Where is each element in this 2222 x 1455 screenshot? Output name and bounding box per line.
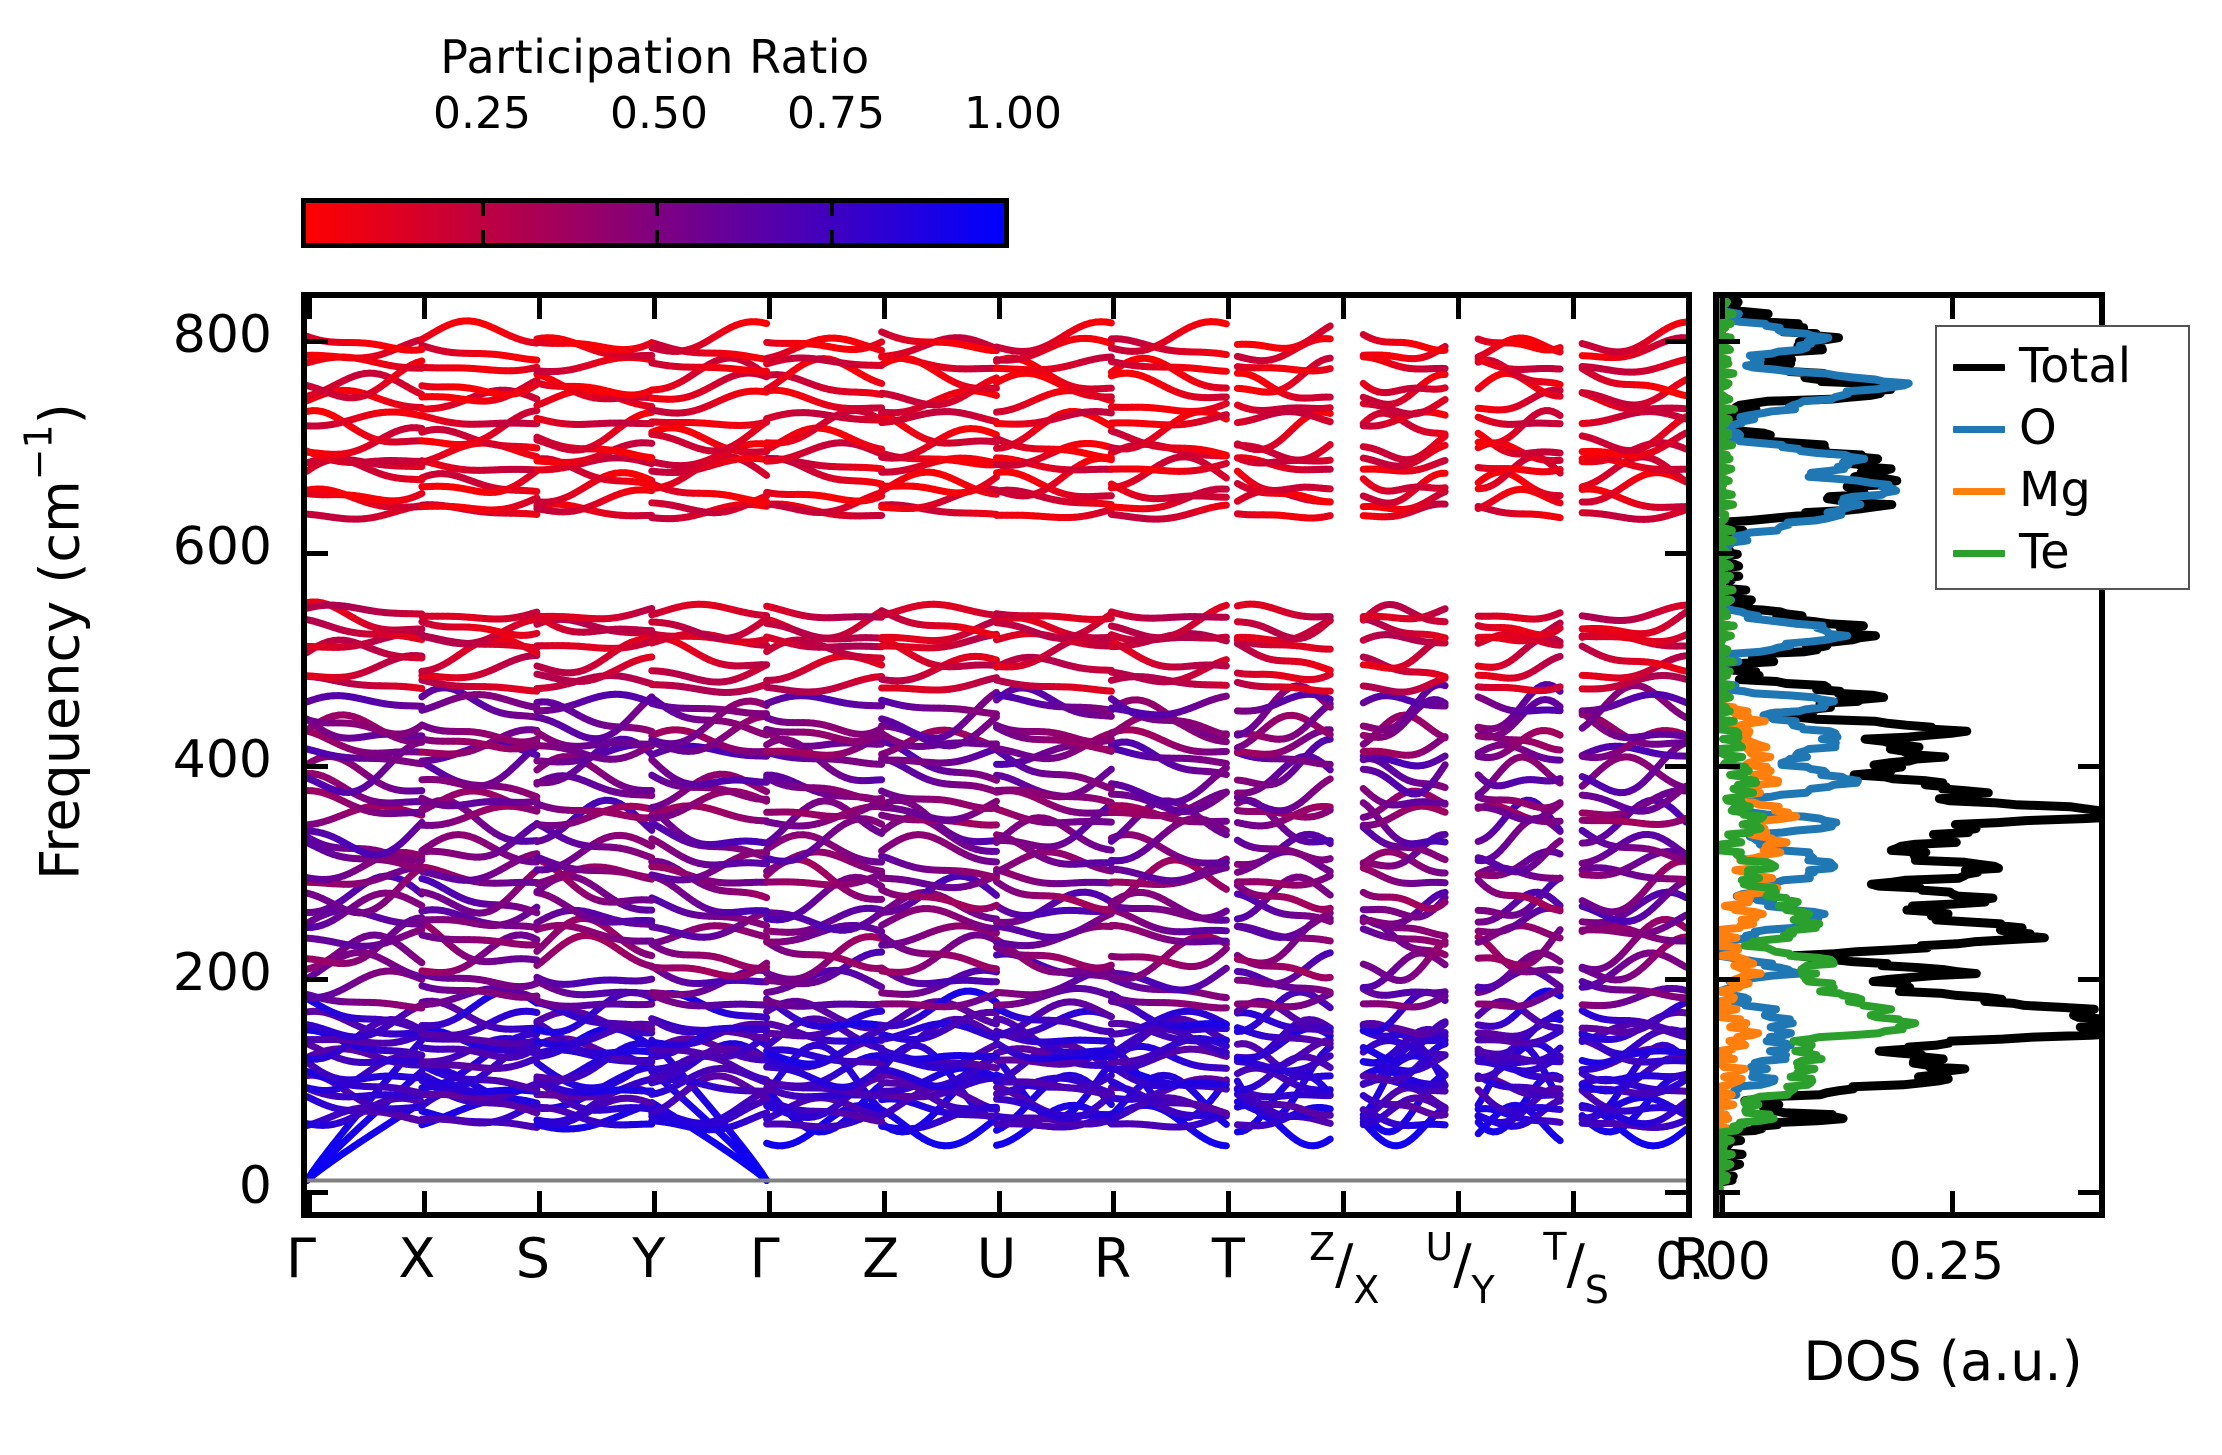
- colorbar-tick-mark: [655, 230, 659, 243]
- band-segment: [532, 1012, 537, 1013]
- band-segment: [417, 1092, 422, 1093]
- y-axis-tick-label: 200: [173, 943, 272, 1003]
- band-segment: [1106, 1094, 1111, 1095]
- band-segment: [1556, 1031, 1560, 1033]
- band-segment: [647, 1028, 652, 1029]
- band-segment: [1556, 1056, 1560, 1058]
- band-segment: [1681, 1036, 1686, 1037]
- band-segment: [876, 1047, 881, 1048]
- band-segment: [1681, 1074, 1686, 1075]
- band-segment: [761, 1079, 766, 1080]
- band-segment: [647, 1102, 652, 1104]
- band-segment: [1221, 1112, 1226, 1114]
- band-segment: [1556, 1100, 1560, 1102]
- band-segment: [1221, 1145, 1226, 1146]
- y-axis-unit-exponent: −1: [17, 424, 61, 480]
- band-segment: [1441, 1072, 1445, 1075]
- band-segment: [532, 1047, 537, 1050]
- band-segment: [417, 1120, 422, 1121]
- band-segment: [991, 1022, 996, 1024]
- band-segment: [1681, 1113, 1686, 1115]
- colorbar-tick-label: 0.75: [787, 88, 885, 139]
- band-segment: [1681, 1003, 1686, 1005]
- band-segment: [1326, 1065, 1330, 1068]
- band-segment: [1221, 1051, 1226, 1052]
- colorbar-tick-mark: [481, 203, 485, 216]
- band-segment: [876, 1121, 881, 1122]
- figure-root: Participation Ratio 0.250.500.751.00 020…: [0, 0, 2222, 1455]
- band-segment: [1681, 1129, 1686, 1133]
- band-segment: [1441, 1033, 1445, 1034]
- band-segment: [1221, 1044, 1226, 1046]
- band-segment: [1326, 1047, 1330, 1050]
- band-segment: [1326, 1005, 1330, 1008]
- band-segment: [761, 1017, 766, 1018]
- colorbar-tick-mark: [830, 230, 834, 243]
- band-segment: [1556, 1122, 1560, 1123]
- band-segment: [1681, 1080, 1686, 1083]
- colorbar: [301, 198, 1009, 248]
- band-segment: [532, 1089, 537, 1090]
- band-segment: [1326, 1139, 1330, 1142]
- band-segment: [1556, 1095, 1560, 1096]
- band-segment: [1556, 1078, 1560, 1079]
- band-structure-plot: [307, 298, 1686, 1212]
- band-segment: [1221, 1120, 1226, 1124]
- colorbar-tick-mark: [655, 203, 659, 216]
- band-segment: [991, 1056, 996, 1057]
- y-axis-tick-label: 600: [173, 517, 272, 577]
- colorbar-title: Participation Ratio: [305, 30, 1005, 84]
- band-segment: [417, 1101, 422, 1103]
- band-segment: [417, 1054, 422, 1055]
- band-segment: [1681, 1120, 1686, 1122]
- band-segment: [1681, 1102, 1686, 1106]
- band-segment: [1441, 1023, 1445, 1026]
- band-segment: [1221, 1024, 1226, 1025]
- band-segment: [876, 1063, 881, 1064]
- band-segment: [761, 1095, 766, 1098]
- band-structure-panel[interactable]: [301, 292, 1692, 1218]
- y-axis-title-close: ): [29, 403, 92, 424]
- colorbar-tick-labels: 0.250.500.751.00: [305, 88, 1005, 134]
- band-segment: [1326, 1122, 1330, 1123]
- band-segment: [761, 1038, 766, 1039]
- band-segment: [1441, 1115, 1445, 1116]
- y-axis-tick-label: 800: [173, 305, 272, 365]
- y-axis-title: Frequency (cm−1): [25, 262, 92, 1022]
- band-segment: [761, 1113, 766, 1115]
- colorbar-tick-label: 0.25: [433, 88, 531, 139]
- band-segment: [1556, 1138, 1560, 1141]
- band-segment: [532, 1111, 537, 1113]
- band-segment: [991, 1067, 996, 1068]
- y-axis-tick-labels: 0200400600800: [60, 292, 288, 1218]
- band-segment: [1556, 1013, 1560, 1015]
- band-segment: [1681, 1012, 1686, 1013]
- band-segment: [1326, 1108, 1330, 1109]
- colorbar-tick-label: 0.50: [610, 88, 708, 139]
- band-segment: [1326, 1056, 1330, 1058]
- band-segment: [1106, 1075, 1111, 1078]
- y-axis-tick-label: 400: [173, 730, 272, 790]
- colorbar-tick-mark: [830, 203, 834, 216]
- band-segment: [1441, 1044, 1445, 1045]
- band-segment: [1221, 1088, 1226, 1089]
- band-segment: [1326, 1043, 1330, 1044]
- band-segment: [1556, 1019, 1560, 1020]
- band-segment: [1106, 1014, 1111, 1017]
- colorbar-tick-label: 1.00: [964, 88, 1062, 139]
- y-axis-tick-label: 0: [239, 1156, 272, 1216]
- colorbar-tick-mark: [481, 230, 485, 243]
- y-axis-title-text: Frequency (cm: [29, 480, 92, 880]
- band-segment: [1441, 1106, 1445, 1108]
- band-segment: [647, 1108, 652, 1109]
- band-segment: [1556, 1048, 1560, 1051]
